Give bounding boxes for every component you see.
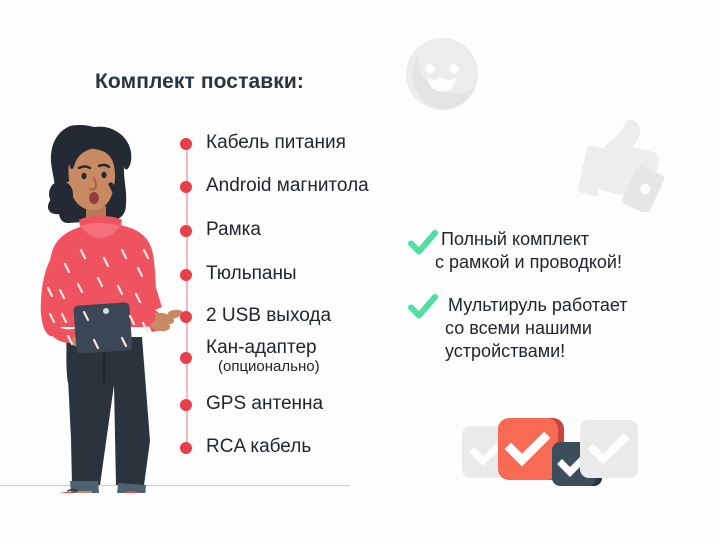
smiley-face-icon — [406, 38, 478, 110]
list-item-label: Тюльпаны — [206, 263, 297, 285]
avito-watermark: Avito — [608, 500, 708, 528]
checkbox-tile-grey-right — [580, 420, 638, 478]
list-item-label: Android магнитола — [206, 175, 369, 197]
page-title: Комплект поставки: — [95, 70, 304, 94]
feature-multiwheel-text: Мультируль работает со всеми нашими устр… — [448, 294, 628, 363]
bullet-dot-icon — [180, 181, 192, 193]
bullet-dot-icon — [180, 269, 192, 281]
checkbox-tile-red — [498, 418, 558, 480]
thumbs-up-icon — [578, 112, 674, 212]
list-item-label: 2 USB выхода — [206, 305, 331, 327]
svg-text:Avito: Avito — [639, 504, 691, 527]
list-item-label: GPS антенна — [206, 393, 323, 415]
list-item-label: Кан-адаптер — [206, 337, 317, 359]
feature-full-kit-text: Полный комплект с рамкой и проводкой! — [441, 228, 622, 274]
feature-full-kit: Полный комплект с рамкой и проводкой! — [408, 228, 698, 288]
bullet-dot-icon — [180, 311, 192, 323]
checkbox-tiles-decoration — [462, 414, 627, 486]
bullet-dot-icon — [180, 442, 192, 454]
green-check-icon — [408, 228, 438, 258]
list-item-sublabel: (опционально) — [218, 358, 320, 375]
woman-pointing-illustration — [18, 108, 186, 493]
list-item-label: Рамка — [206, 219, 261, 241]
slide-canvas: Комплект поставки: Кабель питания Androi… — [0, 0, 720, 540]
bullet-dot-icon — [180, 138, 192, 150]
bullet-dot-icon — [180, 352, 192, 364]
bullet-dot-icon — [180, 225, 192, 237]
feature-multiwheel: Мультируль работает со всеми нашими устр… — [408, 292, 708, 372]
list-item-label: RCA кабель — [206, 436, 311, 458]
avito-logo-icon — [610, 503, 634, 526]
list-item-label: Кабель питания — [206, 132, 346, 154]
bullet-dot-icon — [180, 399, 192, 411]
green-check-icon — [408, 292, 438, 322]
